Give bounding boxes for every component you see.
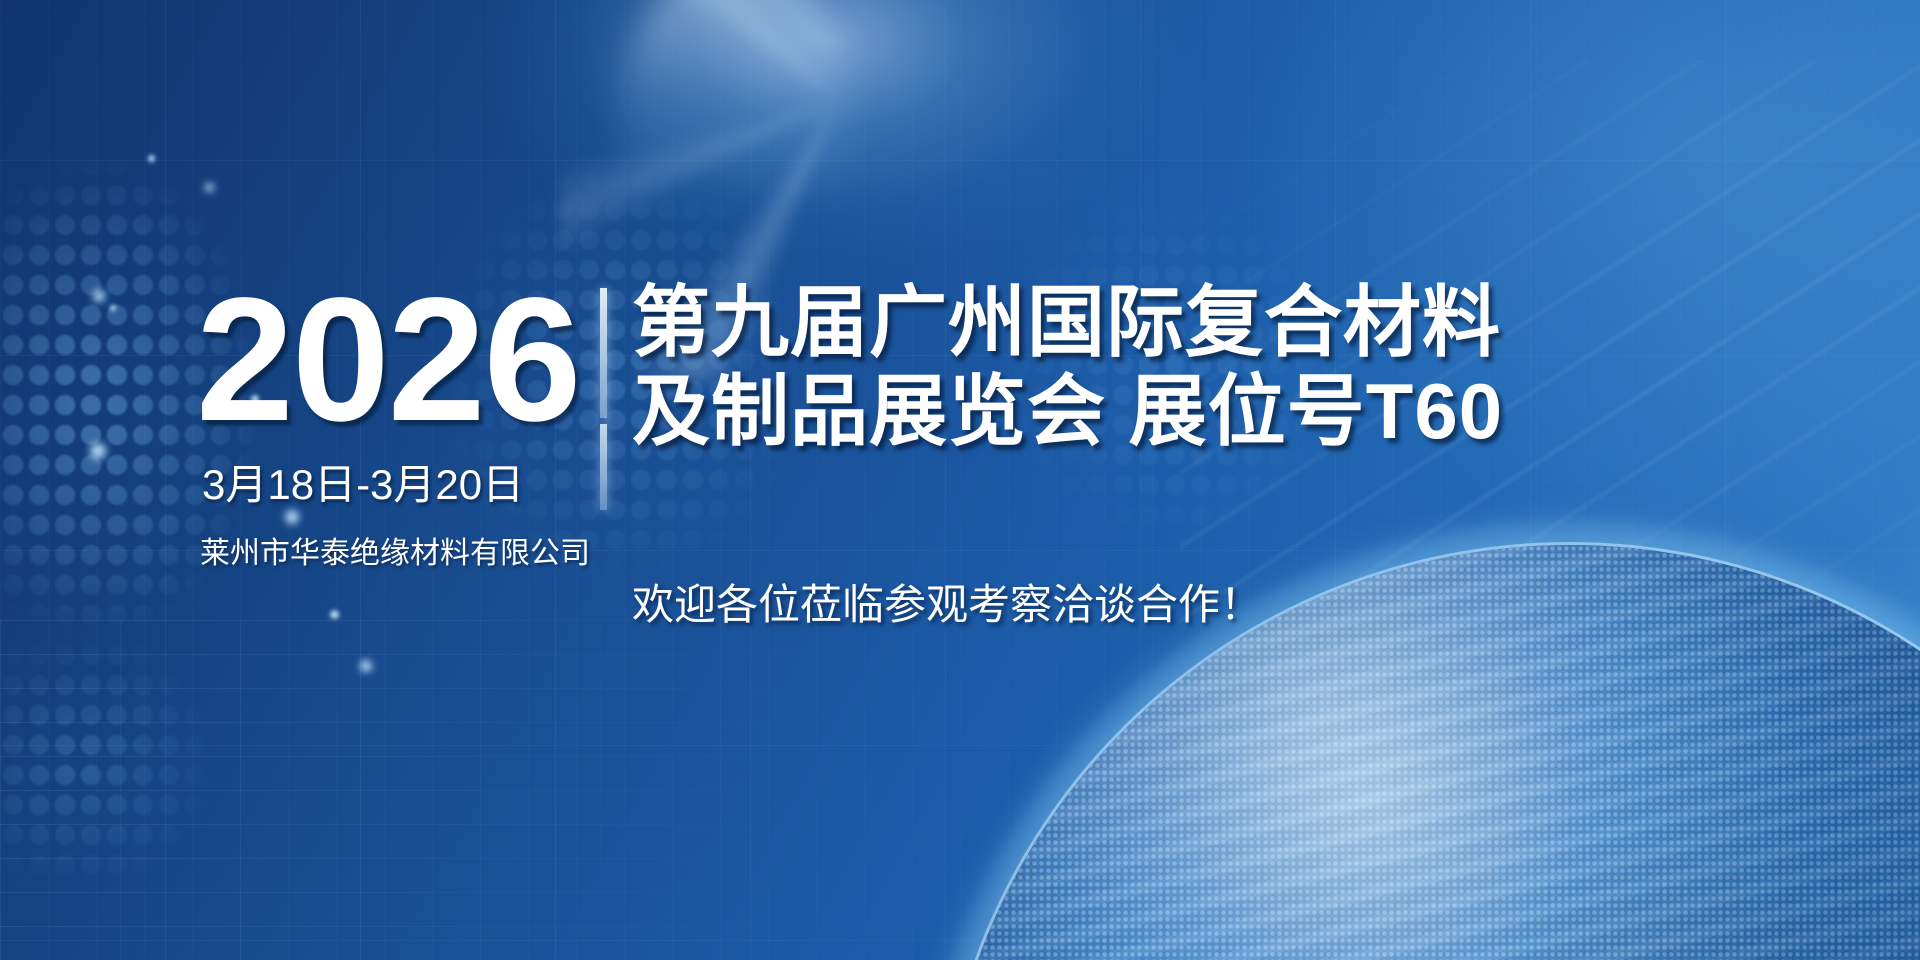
banner-content: 2026 3月18日-3月20日 莱州市华泰绝缘材料有限公司 第九届广州国际复合…: [0, 0, 1920, 960]
event-year: 2026: [196, 272, 626, 448]
event-title-line-1: 第九届广州国际复合材料: [632, 278, 1501, 366]
company-name: 莱州市华泰绝缘材料有限公司: [200, 536, 626, 572]
vertical-divider-lower: [600, 424, 607, 510]
event-title-block: 第九届广州国际复合材料 及制品展览会 展位号T60: [632, 278, 1902, 456]
event-title: 第九届广州国际复合材料 及制品展览会 展位号T60: [632, 278, 1902, 456]
event-dates: 3月18日-3月20日: [202, 462, 626, 508]
event-date-block: 2026 3月18日-3月20日 莱州市华泰绝缘材料有限公司: [196, 272, 626, 572]
welcome-message: 欢迎各位莅临参观考察洽谈合作！: [632, 580, 1262, 630]
vertical-divider: [600, 288, 607, 418]
event-title-line-2: 及制品展览会 展位号T60: [632, 367, 1902, 456]
exhibition-banner: 2026 3月18日-3月20日 莱州市华泰绝缘材料有限公司 第九届广州国际复合…: [0, 0, 1920, 960]
